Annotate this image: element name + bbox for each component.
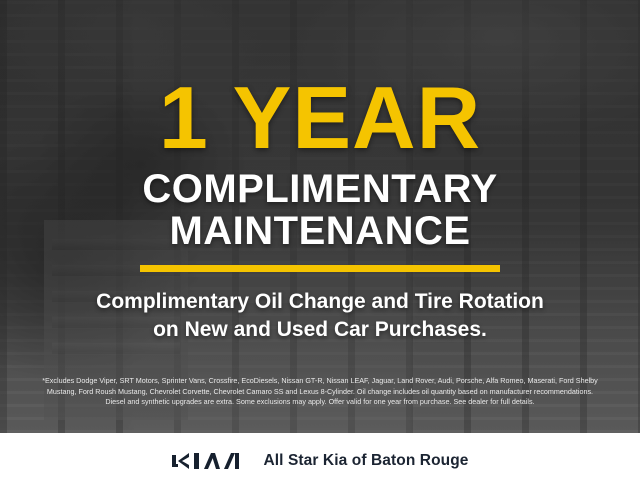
disclaimer-text: *Excludes Dodge Viper, SRT Motors, Sprin… [0, 376, 640, 408]
headline-complimentary: COMPLIMENTARY [142, 169, 497, 209]
promotional-banner: 1 YEAR COMPLIMENTARY MAINTENANCE Complim… [0, 0, 640, 488]
dealer-footer-bar: All Star Kia of Baton Rouge [0, 433, 640, 488]
disclaimer-line-2: Mustang, Ford Roush Mustang, Chevrolet C… [10, 387, 630, 398]
hero-section: 1 YEAR COMPLIMENTARY MAINTENANCE Complim… [0, 0, 640, 433]
headline-maintenance: MAINTENANCE [169, 211, 470, 251]
yellow-divider-rule [140, 265, 500, 272]
disclaimer-line-3: Diesel and synthetic upgrades are extra.… [10, 397, 630, 408]
headline-year: 1 YEAR [159, 78, 481, 159]
headline-stack: 1 YEAR COMPLIMENTARY MAINTENANCE Complim… [0, 0, 640, 433]
disclaimer-line-1: *Excludes Dodge Viper, SRT Motors, Sprin… [10, 376, 630, 387]
dealer-name: All Star Kia of Baton Rouge [263, 452, 468, 470]
subheadline-line-2: on New and Used Car Purchases. [96, 316, 544, 344]
subheadline: Complimentary Oil Change and Tire Rotati… [96, 288, 544, 343]
subheadline-line-1: Complimentary Oil Change and Tire Rotati… [96, 288, 544, 316]
kia-logo [171, 449, 245, 473]
